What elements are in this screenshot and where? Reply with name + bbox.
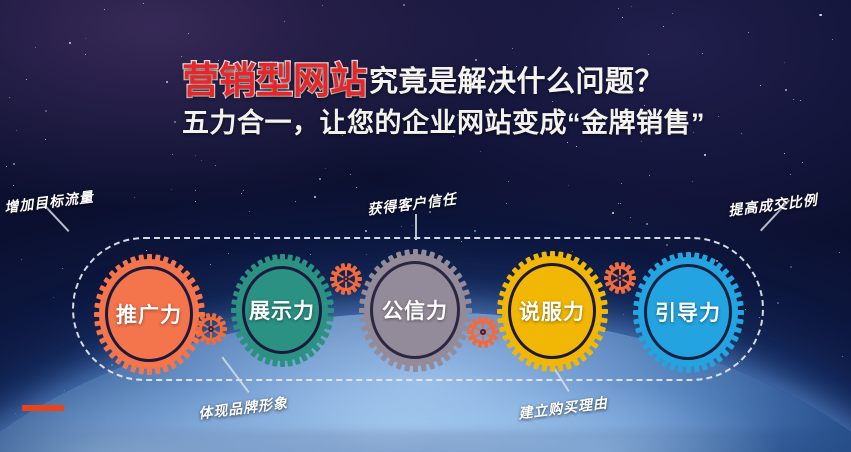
annotation-bottom-left: 体现品牌形象 [197, 393, 289, 424]
gear-label: 公信力 [360, 250, 470, 370]
mini-gear-2[interactable] [331, 264, 361, 294]
title-emphasis: 营销型网站 [182, 62, 367, 99]
annotation-bottom-right: 建立购买理由 [517, 393, 609, 424]
headline-block: 营销型网站 究竟是解决什么问题？ 五力合一，让您的企业网站变成“金牌销售” [182, 62, 802, 137]
annotation-top-left: 增加目标流量 [3, 187, 95, 218]
mini-gear-3[interactable] [468, 317, 498, 347]
gear-3[interactable]: 公信力 [360, 250, 470, 370]
title-row: 营销型网站 究竟是解决什么问题？ [182, 62, 802, 99]
gear-label: 推广力 [95, 255, 203, 373]
gear-4[interactable]: 说服力 [498, 252, 606, 370]
mini-gear-hub [617, 275, 623, 281]
mini-gear-hub [208, 326, 214, 332]
leader-line-top-center [415, 214, 417, 240]
annotation-top-center: 获得客户信任 [366, 189, 458, 220]
gear-1[interactable]: 推广力 [95, 255, 203, 373]
mini-gear-hub [480, 329, 486, 335]
gear-label: 说服力 [498, 252, 606, 370]
mini-gear-1[interactable] [196, 314, 226, 344]
title-rest: 究竟是解决什么问题？ [369, 68, 664, 99]
slide-canvas: 营销型网站 究竟是解决什么问题？ 五力合一，让您的企业网站变成“金牌销售” 推广… [0, 0, 851, 452]
gear-label: 引导力 [634, 253, 742, 371]
subtitle: 五力合一，让您的企业网站变成“金牌销售” [182, 110, 802, 137]
mini-gear-4[interactable] [605, 263, 635, 293]
mini-gear-hub [343, 276, 349, 282]
gear-2[interactable]: 展示力 [232, 255, 332, 365]
gear-5[interactable]: 引导力 [634, 253, 742, 371]
accent-bar [22, 405, 64, 411]
gear-label: 展示力 [232, 255, 332, 365]
